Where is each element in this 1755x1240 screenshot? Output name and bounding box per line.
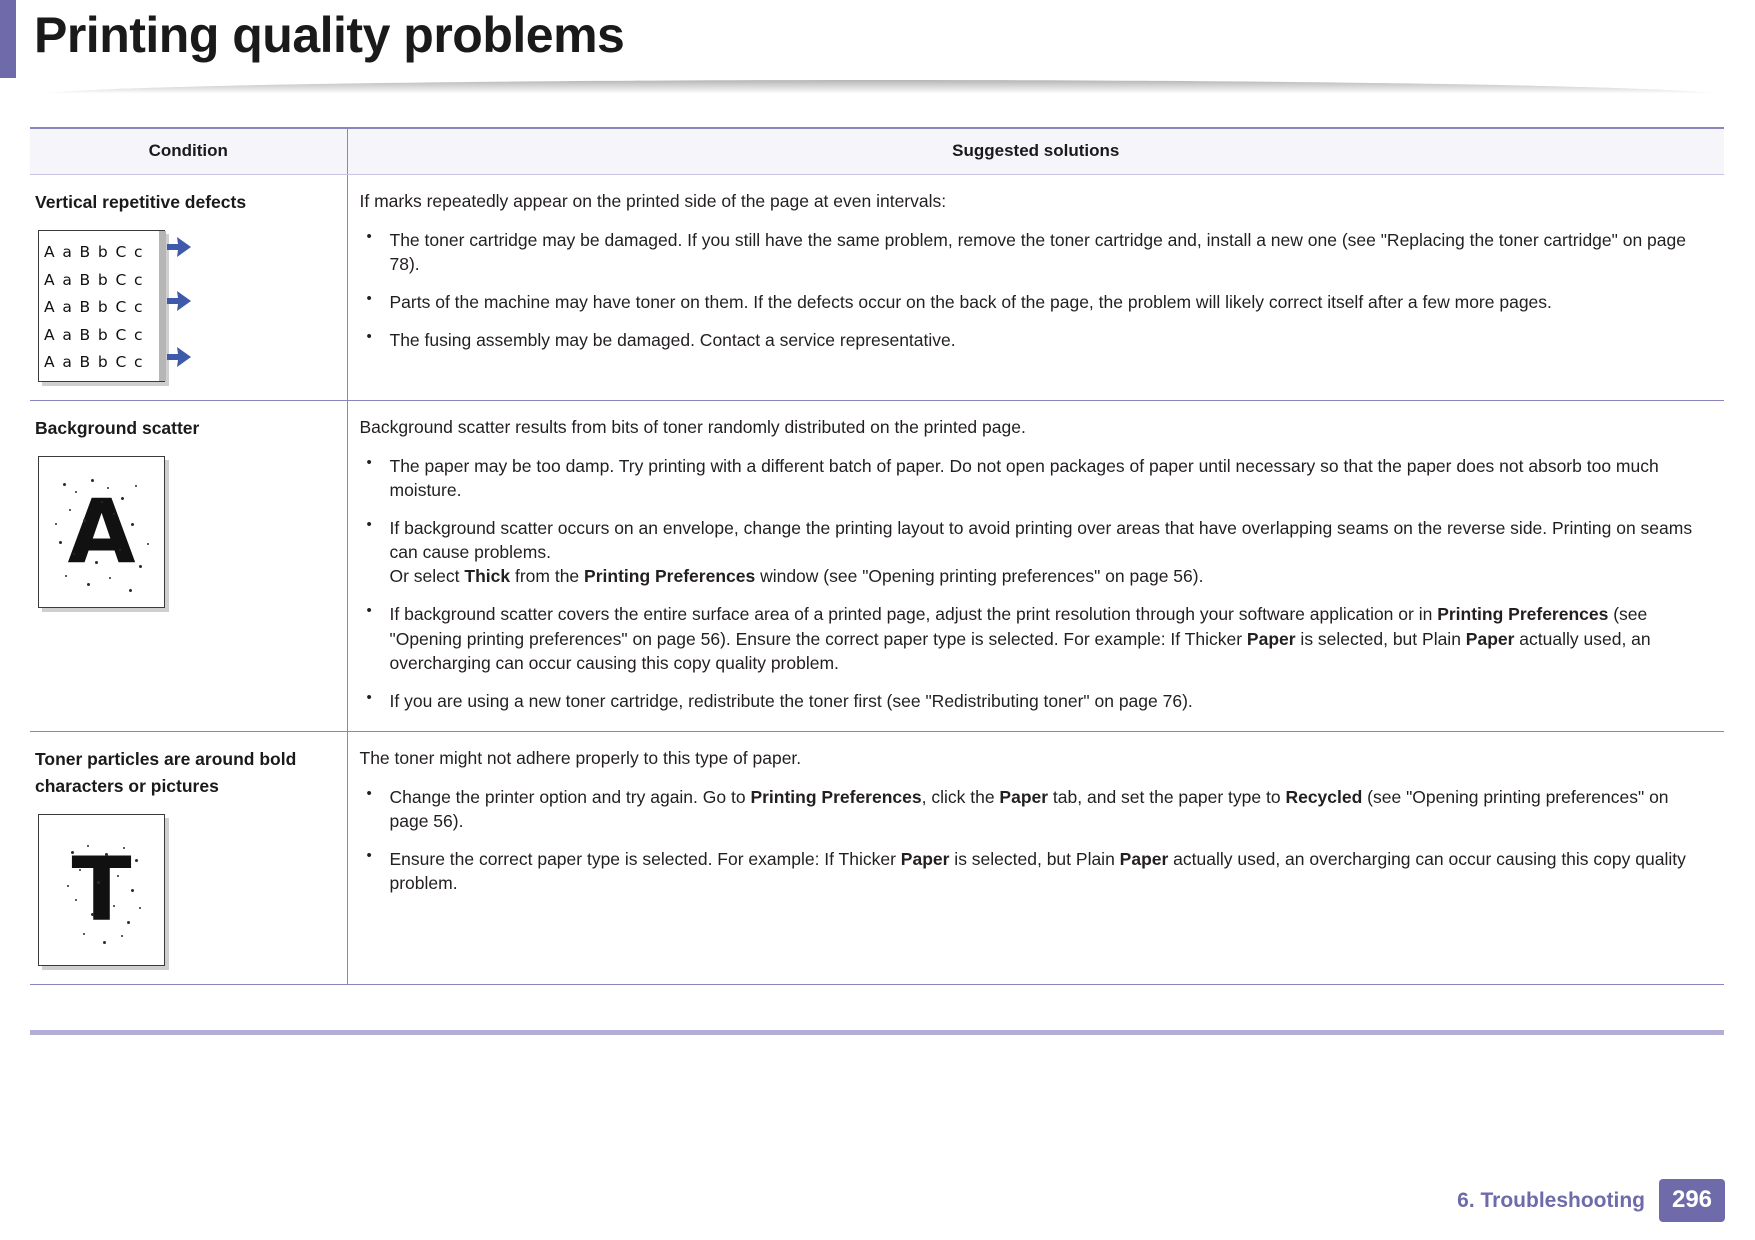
solutions-cell: If marks repeatedly appear on the printe… <box>347 175 1724 401</box>
sample-text-line: A a B b C c <box>44 239 164 267</box>
condition-cell: Vertical repetitive defects A a B b C c … <box>30 175 347 401</box>
header-accent-bar <box>0 0 16 78</box>
list-item: If background scatter occurs on an envel… <box>360 516 1707 588</box>
page-footer: 6. Troubleshooting 296 <box>1457 1179 1725 1222</box>
sample-text-line: A a B b C c <box>44 294 164 322</box>
list-item-text: If background scatter occurs on an envel… <box>390 518 1693 562</box>
list-item: Parts of the machine may have toner on t… <box>360 290 1707 314</box>
list-item: The paper may be too damp. Try printing … <box>360 454 1707 502</box>
list-item: Ensure the correct paper type is selecte… <box>360 847 1707 895</box>
list-item: If you are using a new toner cartridge, … <box>360 689 1707 713</box>
page-header: Printing quality problems <box>0 0 1755 95</box>
sample-text-line: A a B b C c <box>44 322 164 350</box>
sample-text-line: A a B b C c <box>44 349 164 377</box>
sample-paper: A a B b C c A a B b C c A a B b C c A a … <box>38 230 165 382</box>
page-title: Printing quality problems <box>34 6 624 64</box>
solutions-cell: Background scatter results from bits of … <box>347 401 1724 732</box>
defect-stripe <box>159 231 166 381</box>
footer-page-number: 296 <box>1659 1179 1725 1222</box>
header-divider-swoosh <box>30 80 1730 96</box>
solution-bullet-list: Change the printer option and try again.… <box>360 785 1707 896</box>
condition-cell: Toner particles are around bold characte… <box>30 732 347 985</box>
sample-image-toner-particles: T <box>38 814 337 966</box>
table-row: Toner particles are around bold characte… <box>30 732 1724 985</box>
solution-bullet-list: The toner cartridge may be damaged. If y… <box>360 228 1707 353</box>
list-item: If background scatter covers the entire … <box>360 602 1707 674</box>
table-row: Vertical repetitive defects A a B b C c … <box>30 175 1724 401</box>
condition-title: Vertical repetitive defects <box>35 189 337 216</box>
solution-intro: If marks repeatedly appear on the printe… <box>360 190 1707 214</box>
sample-paper: A <box>38 456 165 608</box>
sample-paper: T <box>38 814 165 966</box>
footer-rule <box>30 1030 1724 1035</box>
condition-cell: Background scatter A <box>30 401 347 732</box>
sample-image-vertical-repetitive-defects: A a B b C c A a B b C c A a B b C c A a … <box>38 230 337 382</box>
solution-bullet-list: The paper may be too damp. Try printing … <box>360 454 1707 713</box>
sample-letter: T <box>39 846 164 934</box>
column-header-solutions: Suggested solutions <box>347 128 1724 175</box>
list-item-extra-text: Or select Thick from the Printing Prefer… <box>390 566 1204 586</box>
sample-image-background-scatter: A <box>38 456 337 608</box>
condition-title: Background scatter <box>35 415 337 442</box>
column-header-condition: Condition <box>30 128 347 175</box>
list-item: Change the printer option and try again.… <box>360 785 1707 833</box>
list-item: The toner cartridge may be damaged. If y… <box>360 228 1707 276</box>
condition-title: Toner particles are around bold characte… <box>35 746 337 800</box>
solution-intro: Background scatter results from bits of … <box>360 416 1707 440</box>
table-header-row: Condition Suggested solutions <box>30 128 1724 175</box>
list-item: The fusing assembly may be damaged. Cont… <box>360 328 1707 352</box>
table-row: Background scatter A <box>30 401 1724 732</box>
solution-intro: The toner might not adhere properly to t… <box>360 747 1707 771</box>
sample-text-line: A a B b C c <box>44 267 164 295</box>
solutions-cell: The toner might not adhere properly to t… <box>347 732 1724 985</box>
printing-quality-problems-table: Condition Suggested solutions Vertical r… <box>30 127 1724 985</box>
footer-chapter-label: 6. Troubleshooting <box>1457 1189 1645 1213</box>
